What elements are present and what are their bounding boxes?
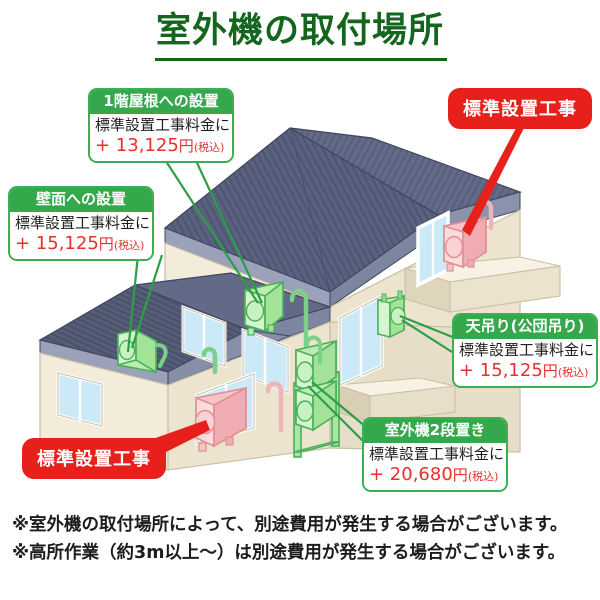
- footer-notes: ※室外機の取付場所によって、別途費用が発生する場合がございます。 ※高所作業（約…: [12, 512, 597, 567]
- badge-standard-bottom[interactable]: 標準設置工事: [22, 438, 166, 479]
- price-currency: 円: [99, 235, 114, 253]
- price-amount: + 13,125: [95, 135, 179, 156]
- footer-note-2: ※高所作業（約3m以上～）は別途費用が発生する場合がございます。: [12, 540, 597, 568]
- price-currency: 円: [453, 466, 468, 484]
- ac-unit-ceiling-hung: [378, 291, 405, 337]
- price-currency: 円: [179, 137, 194, 155]
- callout-ceiling-hung-body: 標準設置工事料金に + 15,125円(税込): [454, 339, 596, 385]
- callout-roof-1f[interactable]: 1階屋根への設置 標準設置工事料金に + 13,125円(税込): [88, 88, 234, 163]
- callout-two-tier-body: 標準設置工事料金に + 20,680円(税込): [364, 443, 506, 489]
- callout-two-tier-note: 標準設置工事料金に: [369, 445, 501, 464]
- callout-roof-1f-note: 標準設置工事料金に: [95, 116, 227, 135]
- price-tax: (税込): [558, 366, 589, 379]
- callout-wall-header: 壁面への設置: [10, 188, 152, 212]
- callout-roof-1f-body: 標準設置工事料金に + 13,125円(税込): [90, 114, 232, 160]
- callout-roof-1f-header: 1階屋根への設置: [90, 90, 232, 114]
- callout-two-tier-header: 室外機2段置き: [364, 419, 506, 443]
- callout-wall[interactable]: 壁面への設置 標準設置工事料金に + 15,125円(税込): [8, 186, 154, 261]
- price-amount: + 15,125: [459, 360, 543, 381]
- price-tax: (税込): [114, 239, 145, 252]
- callout-wall-price: + 15,125円(税込): [15, 233, 147, 256]
- callout-two-tier[interactable]: 室外機2段置き 標準設置工事料金に + 20,680円(税込): [362, 417, 508, 492]
- footer-note-1: ※室外機の取付場所によって、別途費用が発生する場合がございます。: [12, 512, 597, 540]
- price-currency: 円: [543, 362, 558, 380]
- callout-ceiling-hung-note: 標準設置工事料金に: [459, 341, 591, 360]
- callout-roof-1f-price: + 13,125円(税込): [95, 135, 227, 158]
- callout-ceiling-hung-price: + 15,125円(税込): [459, 360, 591, 383]
- callout-ceiling-hung[interactable]: 天吊り(公団吊り) 標準設置工事料金に + 15,125円(税込): [452, 313, 598, 388]
- infographic-stage: 室外機の取付場所: [0, 0, 600, 600]
- callout-two-tier-price: + 20,680円(税込): [369, 464, 501, 487]
- callout-wall-body: 標準設置工事料金に + 15,125円(税込): [10, 212, 152, 258]
- price-amount: + 15,125: [15, 233, 99, 254]
- callout-ceiling-hung-header: 天吊り(公団吊り): [454, 315, 596, 339]
- price-tax: (税込): [468, 470, 499, 483]
- price-amount: + 20,680: [369, 464, 453, 485]
- callout-wall-note: 標準設置工事料金に: [15, 214, 147, 233]
- price-tax: (税込): [194, 141, 225, 154]
- badge-standard-top[interactable]: 標準設置工事: [448, 88, 592, 129]
